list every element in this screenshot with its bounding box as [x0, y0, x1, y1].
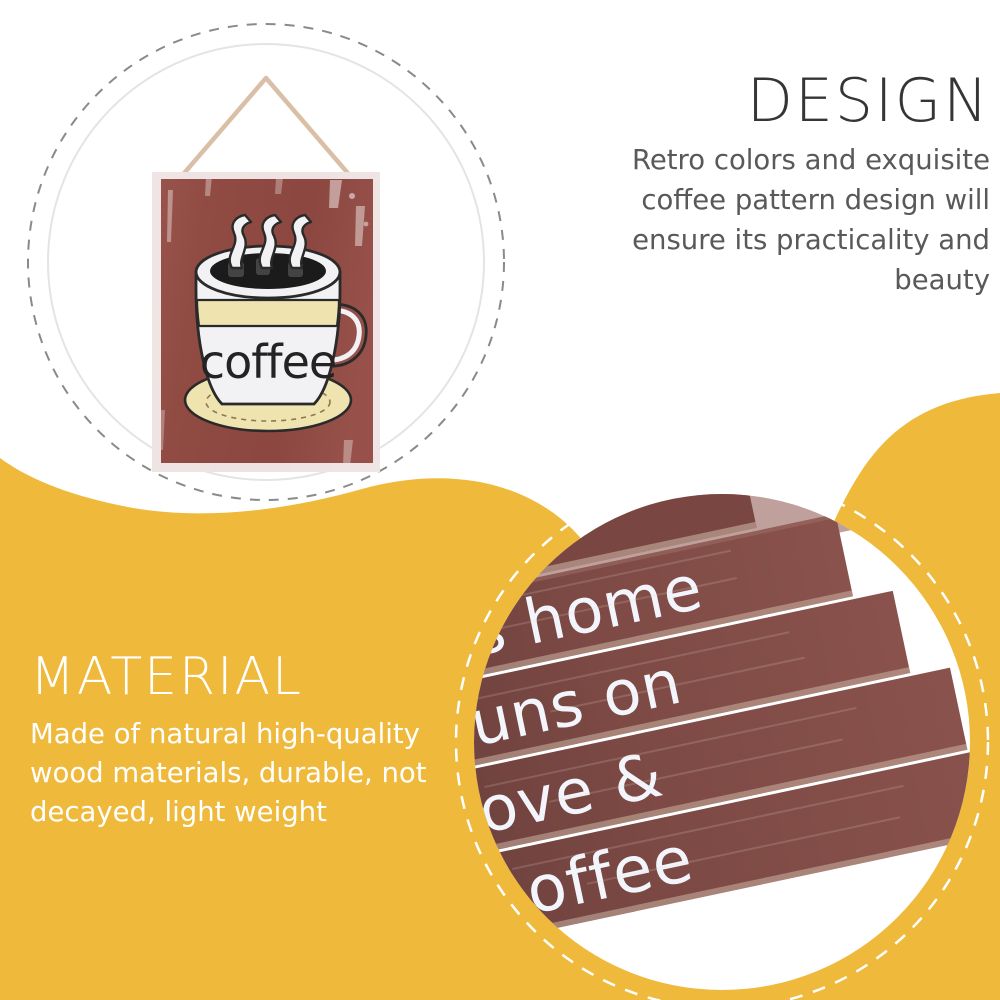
material-section: MATERIAL Made of natural high-quality wo…: [30, 650, 460, 832]
cup-band: [197, 300, 339, 326]
design-section: DESIGN Retro colors and exquisite coffee…: [540, 70, 990, 301]
design-heading: DESIGN: [540, 70, 990, 133]
infographic-canvas: s home uns on ove & offee: [0, 0, 1000, 1000]
material-body-text: Made of natural high-quality wood materi…: [30, 715, 460, 832]
steam: [230, 215, 311, 268]
cup-coffee-text: coffee: [200, 335, 336, 389]
hanging-rope: [180, 78, 352, 178]
material-heading: MATERIAL: [30, 650, 460, 705]
design-body-text: Retro colors and exquisite coffee patter…: [540, 141, 990, 301]
